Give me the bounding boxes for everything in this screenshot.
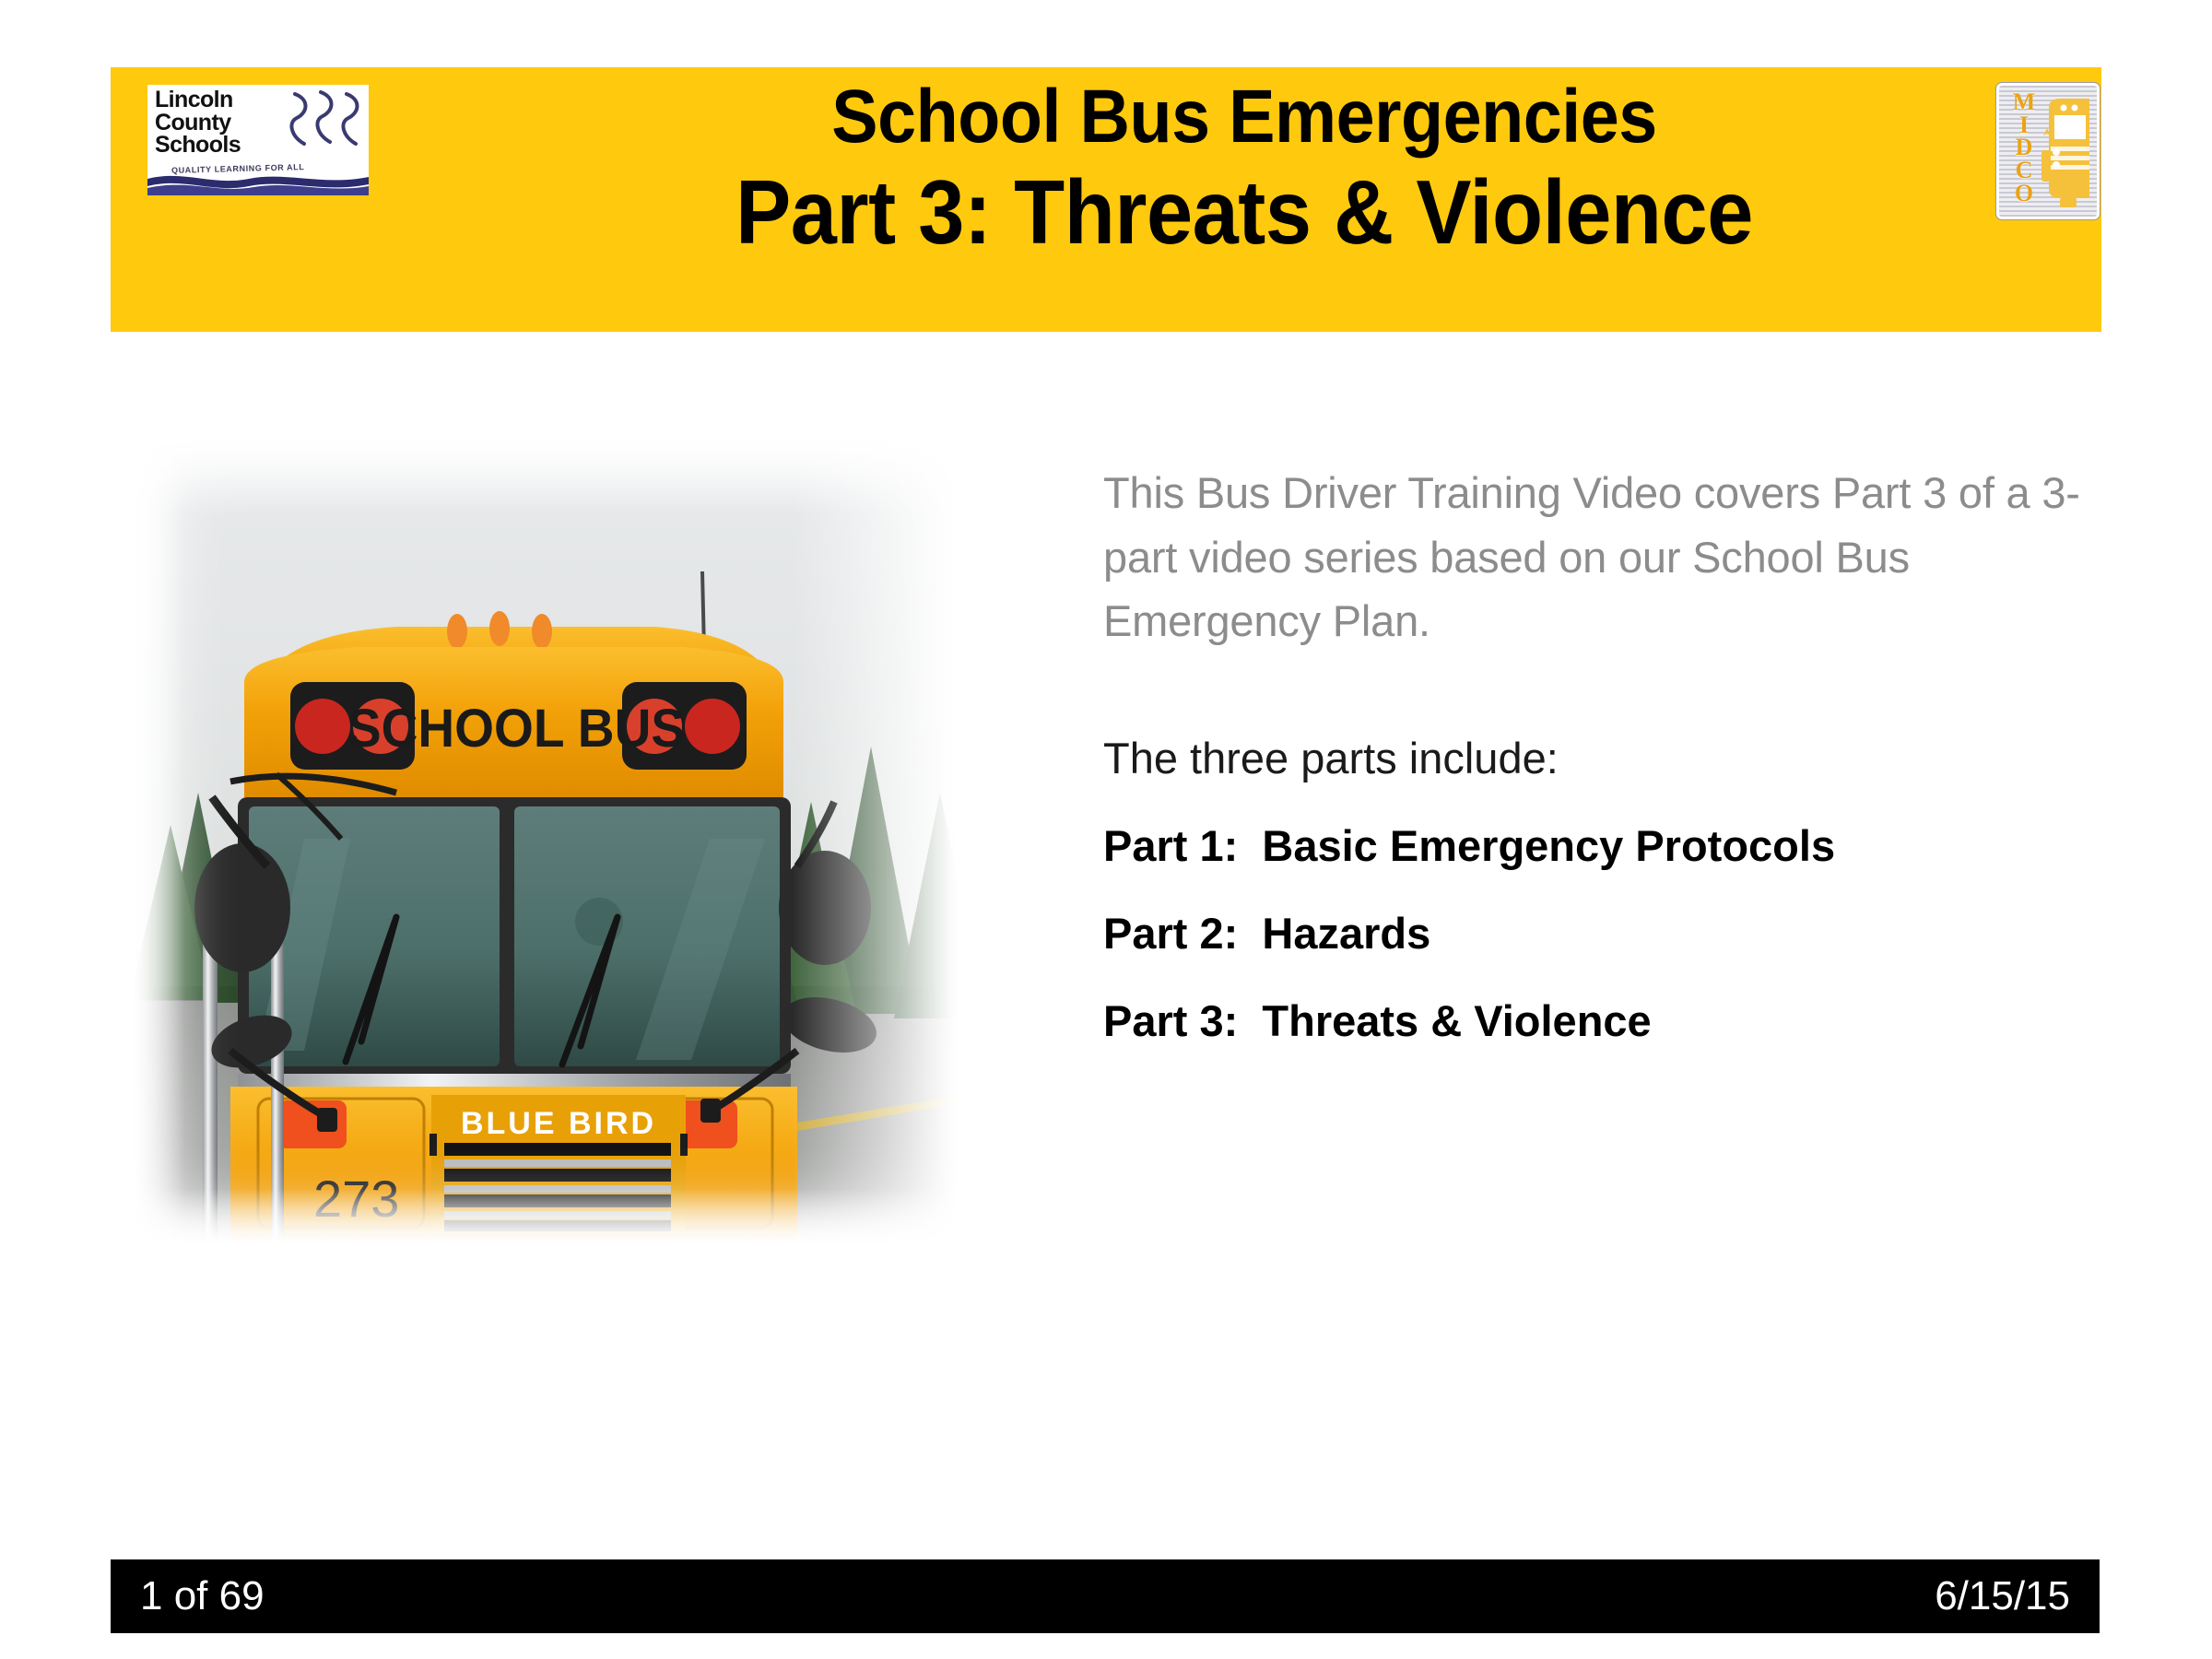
body-content: This Bus Driver Training Video covers Pa… xyxy=(1103,461,2089,1042)
logo-wordmark: Lincoln County Schools xyxy=(155,88,293,157)
logo-line-1: Lincoln xyxy=(155,88,293,112)
part-item-1: Part 1: Basic Emergency Protocols xyxy=(1103,824,2089,867)
slide-counter: 1 of 69 xyxy=(140,1576,265,1617)
logo-waves-icon xyxy=(147,168,369,195)
logo-line-3: Schools xyxy=(155,134,293,157)
slide-date: 6/15/15 xyxy=(1935,1576,2070,1617)
page-title: School Bus Emergencies xyxy=(455,76,2032,159)
parts-lead-text: The three parts include: xyxy=(1103,736,2089,780)
footer-bar: 1 of 69 6/15/15 xyxy=(111,1559,2100,1633)
svg-text:BLUE BIRD: BLUE BIRD xyxy=(461,1106,656,1141)
page-subtitle: Part 3: Threats & Violence xyxy=(455,164,2032,262)
midco-bus-icon xyxy=(2032,95,2093,213)
school-bus-photo: SCHOOL BUS xyxy=(120,406,1005,1263)
svg-text:SCHOOL BUS: SCHOOL BUS xyxy=(347,699,685,759)
lincoln-county-schools-logo: Lincoln County Schools QUALITY LEARNING … xyxy=(147,85,369,195)
intro-paragraph: This Bus Driver Training Video covers Pa… xyxy=(1103,461,2089,653)
logo-line-2: County xyxy=(155,112,293,135)
photo-fade-right xyxy=(793,406,1005,1263)
logo-swoosh-icon xyxy=(286,88,365,157)
part-item-2: Part 2: Hazards xyxy=(1103,912,2089,955)
header-title-block: School Bus Emergencies Part 3: Threats &… xyxy=(387,67,2101,332)
slide: School Bus Emergencies Part 3: Threats &… xyxy=(0,0,2212,1659)
photo-fade-left xyxy=(120,406,184,1263)
header-banner: School Bus Emergencies Part 3: Threats &… xyxy=(111,67,2101,332)
midco-logo: M I D C O xyxy=(1996,83,2100,219)
part-item-3: Part 3: Threats & Violence xyxy=(1103,999,2089,1042)
